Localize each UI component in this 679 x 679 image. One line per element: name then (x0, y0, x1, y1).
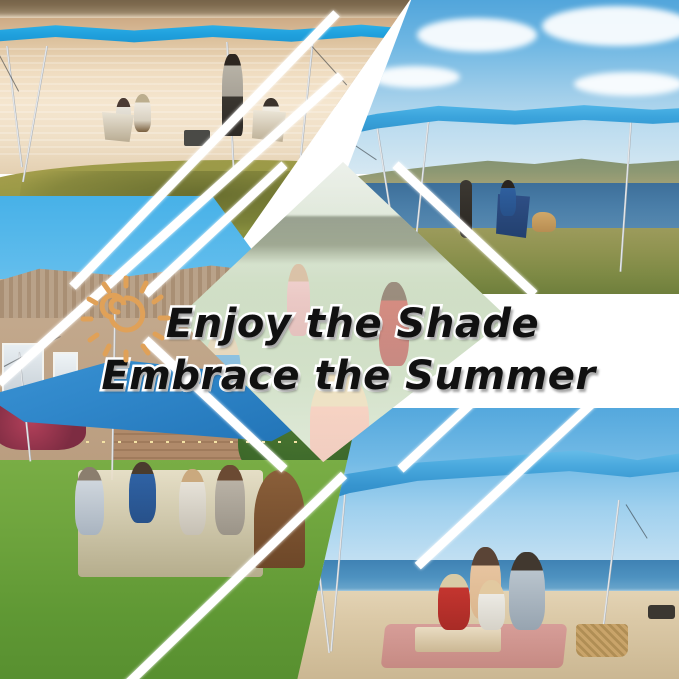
person-seated (500, 180, 516, 216)
scene-beach-picnic (296, 408, 679, 679)
cloud (370, 66, 460, 88)
cloud (542, 6, 679, 46)
person-seated (134, 94, 151, 132)
sandbag-anchor (648, 605, 676, 619)
cloud (574, 72, 679, 96)
person-seated (129, 462, 156, 523)
dog (532, 212, 556, 232)
person-child-girl (438, 574, 470, 629)
distant-treeline (0, 0, 414, 18)
picnic-table (415, 627, 502, 652)
person-seated (215, 465, 244, 535)
camp-chair (102, 112, 134, 142)
person-seated (75, 467, 104, 535)
person-child-boy (478, 580, 506, 630)
sun-spiral-icon (78, 272, 174, 368)
string-lights (86, 441, 304, 443)
picnic-basket (576, 624, 627, 657)
product-collage: Enjoy the Shade Embrace the Summer (0, 0, 679, 679)
cloud (417, 18, 537, 52)
person-adult-man (509, 552, 545, 630)
person-seated (179, 469, 206, 535)
panel-beach-family-picnic (296, 408, 679, 679)
